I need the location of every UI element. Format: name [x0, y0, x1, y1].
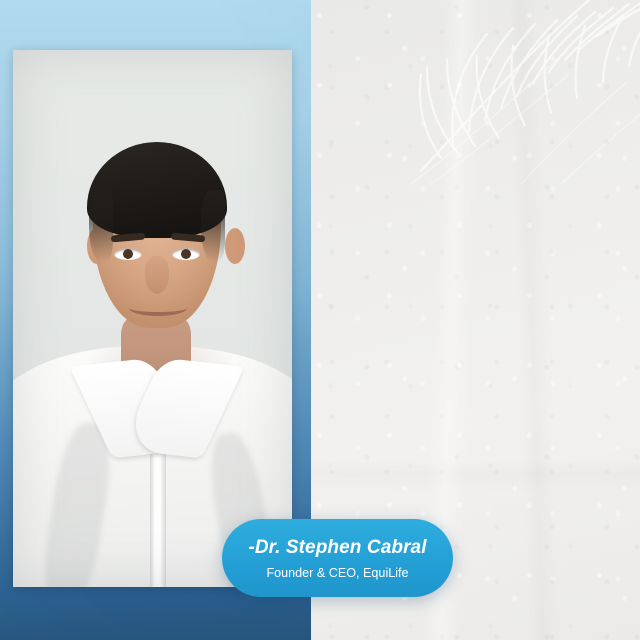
portrait-photo	[13, 50, 292, 587]
ear-right	[225, 228, 245, 264]
author-name: -Dr. Stephen Cabral	[248, 537, 426, 559]
eye-right	[172, 248, 200, 260]
mouth	[129, 300, 187, 316]
hair-sideburn-left	[89, 190, 113, 262]
eye-left	[114, 248, 142, 260]
author-role: Founder & CEO, EquiLife	[266, 566, 408, 580]
nose	[145, 256, 169, 294]
pupil-right	[181, 249, 191, 259]
attribution-badge: -Dr. Stephen Cabral Founder & CEO, EquiL…	[222, 519, 453, 597]
hair-sideburn-right	[201, 190, 225, 262]
testimonial-card: Our mission is to empower people to get …	[0, 0, 640, 640]
pupil-left	[123, 249, 133, 259]
